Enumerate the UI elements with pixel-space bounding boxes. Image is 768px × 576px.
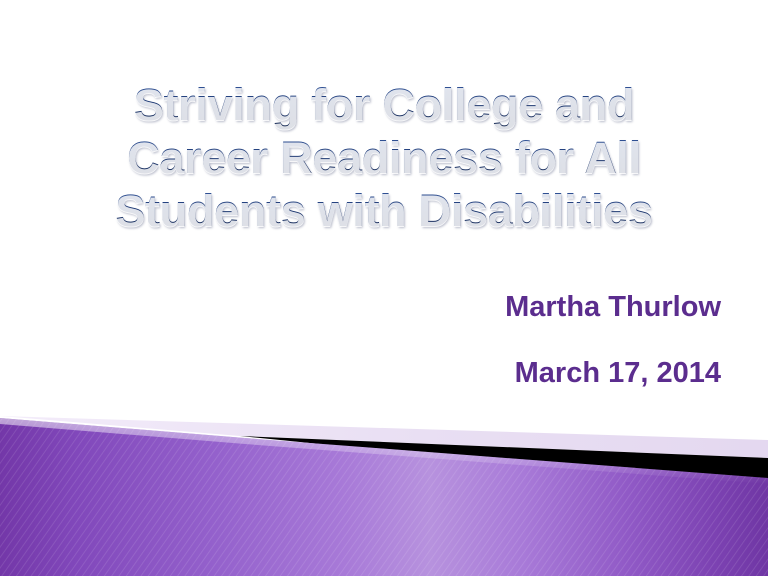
slide-title: Striving for College and Career Readines…: [40, 78, 728, 237]
presentation-date: March 17, 2014: [40, 356, 721, 390]
presenter-name: Martha Thurlow: [40, 290, 721, 324]
subtitle-spacer: [40, 324, 721, 356]
title-line-3: Students with Disabilities: [40, 184, 728, 237]
purple-texture: [0, 400, 768, 576]
banner-shapes: [0, 400, 768, 576]
decorative-banner: [0, 400, 768, 576]
title-line-2: Career Readiness for All: [40, 131, 728, 184]
slide-subtitle: Martha Thurlow March 17, 2014: [40, 290, 721, 390]
title-line-1: Striving for College and: [40, 78, 728, 131]
title-slide: Striving for College and Career Readines…: [0, 0, 768, 576]
